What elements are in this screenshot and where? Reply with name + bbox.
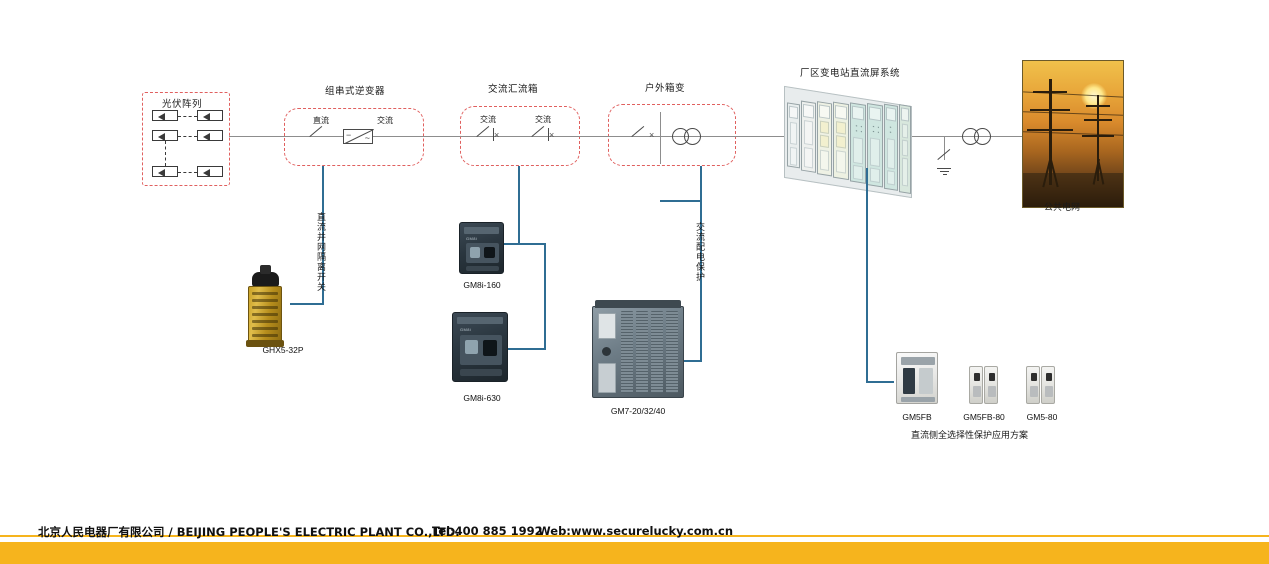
dc-protection-callout-elbow [866,381,894,383]
overhead-conductor [1023,131,1124,136]
pv-array-bus [165,141,166,166]
transformer-winding-secondary-icon [684,128,701,145]
grid-transformer-secondary-icon [974,128,991,145]
product-gm5fb-80-pole2 [984,366,998,404]
pv-array-label: 光伏阵列 [162,96,202,110]
bus-substation-to-panels [736,136,784,137]
inverter-symbol-icon: − ~ [343,129,373,144]
gm5fb-module [903,368,915,394]
combiner-breaker-1-bar [493,128,494,141]
gm7-knob [602,347,611,356]
cabinet-panel [833,102,849,181]
bus-inverter-to-combiner [424,136,460,137]
inverter-dc-switch-icon [310,125,324,137]
pv-module [152,130,178,141]
overhead-conductor [1023,111,1124,116]
dc-protection-callout-line [866,168,868,382]
gm8i-630-connector-riser [544,243,546,349]
power-grid-photo [1022,60,1124,208]
combiner-breaker-2-bar [548,128,549,141]
substation-breaker-icon [632,125,646,137]
gm7-vent [636,311,648,393]
pv-module [197,130,223,141]
cabinet-panel [850,102,866,184]
ghx5-cap [252,272,279,287]
gm8i-630-connector-top [504,243,546,245]
pv-module [197,110,223,121]
pv-string-link [178,116,197,117]
grid-caption: 公共电网 [1044,200,1080,213]
ac-protection-callout-label: 交流配电保护 [693,222,706,282]
dc-protection-caption: 直流侧全选择性保护应用方案 [911,428,1028,441]
cabinet-panel [817,101,832,176]
gm7-vent [651,311,663,393]
tower-crossarm [1030,109,1070,111]
pv-module [152,166,178,177]
product-gm8i-630: GM8i [452,312,508,382]
gm8i-160-connector-riser [518,188,520,244]
footer-company: 北京人民电器厂有限公司 / BEIJING PEOPLE'S ELECTRIC … [38,524,460,540]
combiner-breaker-2-icon [532,125,546,137]
dc-panel-system-label: 厂区变电站直流屏系统 [800,65,900,79]
inverter-ac-terminal-label: 交流 [377,115,393,126]
product-gm5-80-pole2 [1041,366,1055,404]
footer-web: Web:www.securelucky.com.cn [538,524,733,538]
ac-protection-callout-elbow [660,200,702,202]
substation-vertical-bus [660,112,661,164]
diagram-page: 光伏阵列 组串式逆变器 直流 交流 − ~ 直流并网隔离开关 交流汇流箱 交流 … [0,0,1269,564]
gm7-connector [684,360,702,362]
product-gm5fb-80 [969,366,983,404]
pv-module [197,166,223,177]
tower-crossarm [1086,105,1110,107]
gm7-vent [621,311,633,393]
product-gm7-acb [592,298,684,398]
tower-crossarm [1084,119,1112,121]
product-gm5-80 [1026,366,1040,404]
gm7-body [592,306,684,398]
pv-module [152,110,178,121]
gm7-lower-panel [598,363,616,393]
product-label-gm8i-630: GM8i-630 [446,393,518,403]
ac-combiner-label: 交流汇流箱 [488,81,538,95]
product-label-gm7: GM7-20/32/40 [588,406,688,416]
cabinet-panel [899,104,911,194]
substation-breaker-mark: × [649,130,654,140]
product-label-gm5fb: GM5FB [890,412,944,422]
dc-isolator-callout-elbow [290,303,324,305]
tower-crossarm [1027,129,1073,131]
pv-string-link [178,136,197,137]
string-inverter-label: 组串式逆变器 [325,83,385,97]
combiner-right-terminal-label: 交流 [535,114,551,125]
grid-disconnect-icon [938,148,952,160]
combiner-left-terminal-label: 交流 [480,114,496,125]
product-gm8i-160: GM8i [459,222,504,274]
product-label-ghx5-32p: GHX5-32P [248,345,318,355]
cabinet-panel [787,102,800,168]
product-label-gm8i-160: GM8i-160 [446,280,518,290]
pv-string-link [178,172,197,173]
footer-tel: Tel:400 885 1992 [432,524,543,538]
ghx5-body [248,286,282,344]
combiner-breaker-1-icon [477,125,491,137]
gm8i-630-connector [508,348,546,350]
ghx5-knob [260,265,271,274]
combiner-breaker-1-mark: × [494,130,499,140]
footer-accent-band [0,542,1269,564]
overhead-conductor [1023,91,1124,97]
product-label-gm5fb-80: GM5FB-80 [956,412,1012,422]
dc-panel-lineup [784,76,912,204]
combiner-breaker-2-mark: × [549,130,554,140]
product-label-gm5-80: GM5-80 [1014,412,1070,422]
gm7-display-panel [598,313,616,339]
dc-isolator-callout-label: 直流并网隔离开关 [314,212,327,292]
cabinet-panel [884,104,898,191]
bus-combiner-to-substation [580,136,608,137]
cabinet-panel [801,101,816,173]
outdoor-substation-label: 户外箱变 [645,80,685,94]
product-gm5fb [896,352,938,404]
gm7-vent [666,311,678,393]
combiner-callout-stub [518,166,520,188]
cabinet-panel [867,103,883,188]
